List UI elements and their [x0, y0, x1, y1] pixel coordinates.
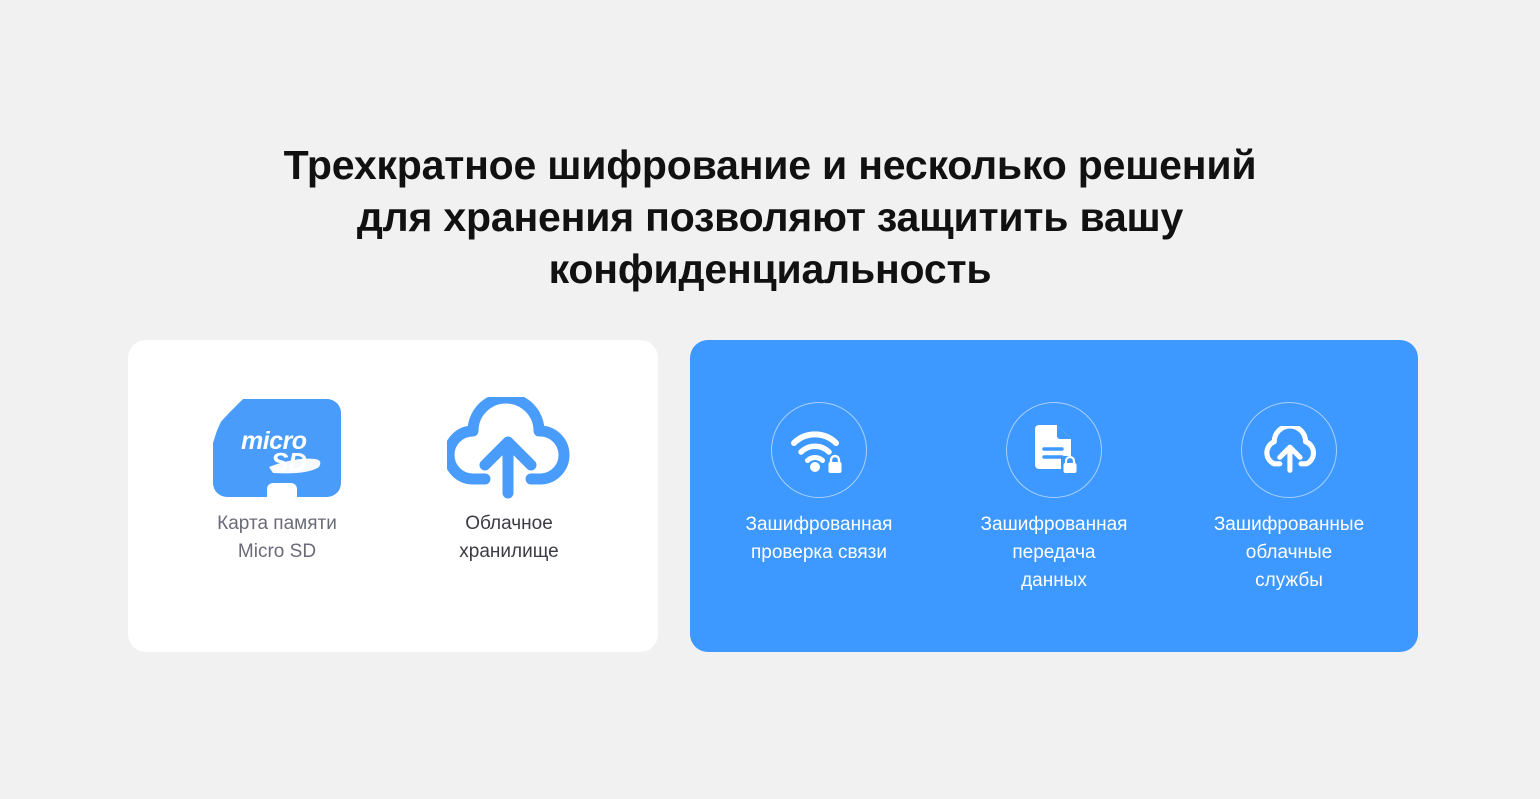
encryption-item-cloud: Зашифрованные облачные службы	[1189, 395, 1389, 595]
label-line-2: хранилище	[459, 538, 558, 566]
document-lock-icon	[1027, 423, 1081, 477]
cards-row: micro SD Карта памяти Micro SD	[128, 340, 1418, 652]
encryption-panel: Зашифрованная проверка связи	[690, 340, 1418, 652]
encryption-item-transfer-label: Зашифрованная передача данных	[981, 511, 1128, 595]
cards-gap	[658, 340, 690, 652]
label-line-1: Зашифрованная	[746, 511, 893, 539]
label-line-3: данных	[981, 567, 1128, 595]
encryption-item-transfer: Зашифрованная передача данных	[954, 395, 1154, 595]
lock-badge	[829, 456, 842, 473]
icon-circle-outline	[771, 402, 867, 498]
label-line-2: проверка связи	[746, 539, 893, 567]
storage-item-cloud: Облачное хранилище	[409, 394, 609, 566]
label-line-1: Облачное	[459, 510, 558, 538]
document-lock-icon-box	[1006, 395, 1102, 505]
section-headline: Трехкратное шифрование и несколько решен…	[260, 139, 1280, 295]
cloud-upload-icon	[1260, 426, 1318, 474]
storage-options-card: micro SD Карта памяти Micro SD	[128, 340, 658, 652]
storage-item-micro-sd-label: Карта памяти Micro SD	[217, 510, 337, 566]
label-line-2: передача	[981, 539, 1128, 567]
encryption-item-connection-label: Зашифрованная проверка связи	[746, 511, 893, 567]
label-line-2: облачные	[1214, 539, 1364, 567]
icon-circle-outline	[1006, 402, 1102, 498]
cloud-upload-icon	[447, 397, 571, 501]
label-line-3: службы	[1214, 567, 1364, 595]
cloud-upload-icon-box	[1241, 395, 1337, 505]
label-line-1: Зашифрованные	[1214, 511, 1364, 539]
micro-sd-icon-box: micro SD	[211, 394, 343, 504]
wifi-lock-icon-box	[771, 395, 867, 505]
page-root: Трехкратное шифрование и несколько решен…	[0, 0, 1540, 799]
storage-item-micro-sd: micro SD Карта памяти Micro SD	[177, 394, 377, 566]
micro-sd-card-icon: micro SD	[211, 397, 343, 501]
label-line-1: Карта памяти	[217, 510, 337, 538]
encryption-item-cloud-label: Зашифрованные облачные службы	[1214, 511, 1364, 595]
storage-item-cloud-label: Облачное хранилище	[459, 510, 558, 566]
label-line-1: Зашифрованная	[981, 511, 1128, 539]
lock-badge	[1061, 456, 1079, 474]
wifi-lock-icon	[790, 426, 848, 474]
encryption-item-connection: Зашифрованная проверка связи	[719, 395, 919, 567]
icon-circle-outline	[1241, 402, 1337, 498]
cloud-upload-icon-box	[447, 394, 571, 504]
label-line-2: Micro SD	[217, 538, 337, 566]
